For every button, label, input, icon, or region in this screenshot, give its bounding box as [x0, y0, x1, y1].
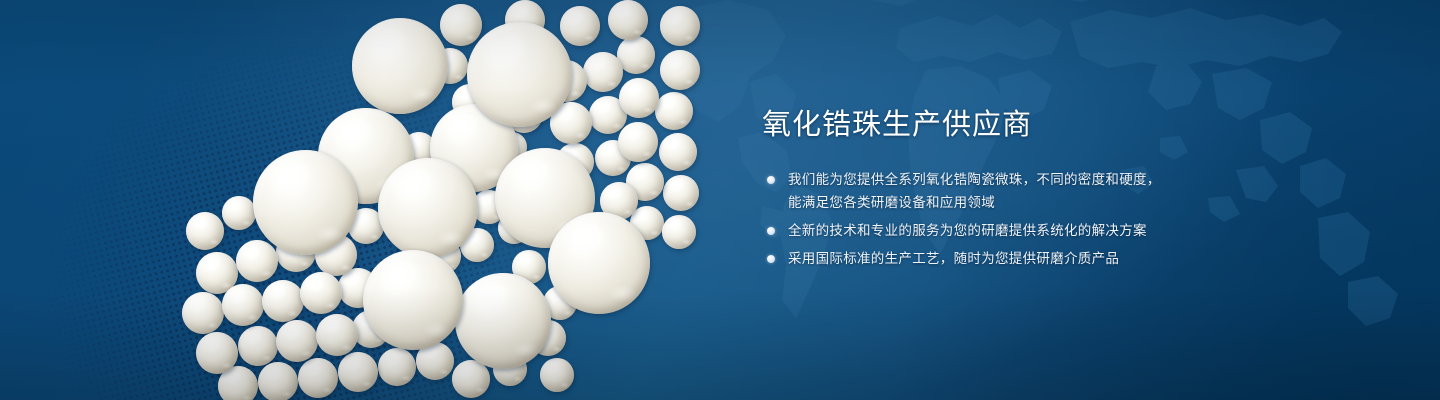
- feature-bullet-text: 我们能为您提供全系列氧化锆陶瓷微珠，不同的密度和硬度，: [788, 168, 1232, 191]
- feature-bullet-list: 我们能为您提供全系列氧化锆陶瓷微珠，不同的密度和硬度，能满足您各类研磨设备和应用…: [762, 168, 1232, 270]
- promo-banner: 氧化锆珠生产供应商 我们能为您提供全系列氧化锆陶瓷微珠，不同的密度和硬度，能满足…: [0, 0, 1440, 400]
- feature-bullet-item: 我们能为您提供全系列氧化锆陶瓷微珠，不同的密度和硬度，能满足您各类研磨设备和应用…: [762, 168, 1232, 214]
- bullet-dot-icon: [767, 176, 775, 184]
- feature-bullet-item: 采用国际标准的生产工艺，随时为您提供研磨介质产品: [762, 247, 1232, 270]
- bullet-dot-icon: [767, 227, 775, 235]
- page-title: 氧化锆珠生产供应商: [762, 108, 1232, 142]
- feature-bullet-item: 全新的技术和专业的服务为您的研磨提供系统化的解决方案: [762, 219, 1232, 242]
- feature-bullet-text: 采用国际标准的生产工艺，随时为您提供研磨介质产品: [788, 247, 1232, 270]
- feature-bullet-text: 全新的技术和专业的服务为您的研磨提供系统化的解决方案: [788, 219, 1232, 242]
- bullet-dot-icon: [767, 255, 775, 263]
- banner-copy-block: 氧化锆珠生产供应商 我们能为您提供全系列氧化锆陶瓷微珠，不同的密度和硬度，能满足…: [762, 108, 1232, 275]
- feature-bullet-text: 能满足您各类研磨设备和应用领域: [788, 191, 1232, 214]
